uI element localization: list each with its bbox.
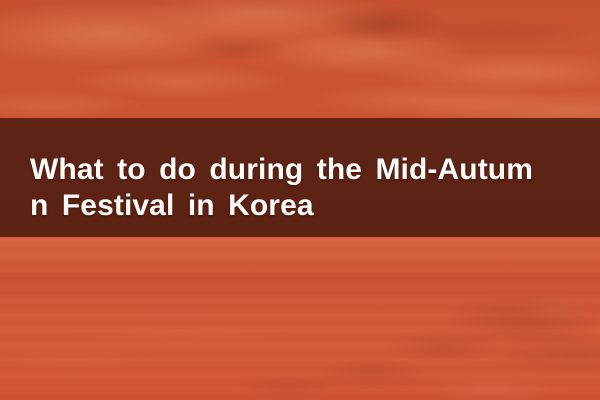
article-banner: What to do during the Mid-Autum n Festiv… (0, 0, 600, 400)
banner-title: What to do during the Mid-Autum n Festiv… (30, 152, 584, 224)
ground-rock-texture (0, 250, 600, 400)
